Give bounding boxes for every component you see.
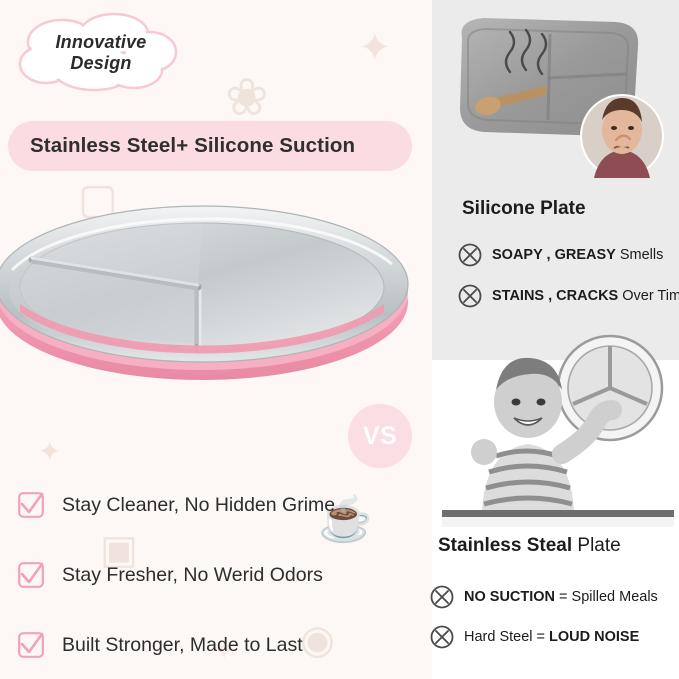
stainless-plate-title-bold: Stainless Steal bbox=[438, 535, 572, 556]
silicone-con-row: STAINS , CRACKS Over Time bbox=[458, 284, 679, 308]
x-circle-icon bbox=[430, 585, 454, 609]
sparkle-icon: ✦ bbox=[38, 438, 61, 466]
silicone-con-rest: Over Time bbox=[618, 288, 679, 304]
vs-badge: VS bbox=[348, 404, 412, 468]
feature-banner: Stainless Steel+ Silicone Suction bbox=[8, 121, 412, 171]
stainless-con-bold: NO SUCTION bbox=[464, 589, 555, 605]
stainless-plate-title-rest: Plate bbox=[572, 535, 621, 556]
silicone-con-bold: SOAPY , GREASY bbox=[492, 247, 616, 263]
check-icon bbox=[18, 562, 44, 588]
stainless-con-rest: = Spilled Meals bbox=[555, 589, 658, 605]
silicone-plate-section: Silicone Plate SOAPY , GREASY Smells bbox=[432, 0, 679, 360]
badge-line-2: Design bbox=[16, 53, 186, 74]
innovative-design-label: Innovative Design bbox=[16, 32, 186, 73]
stainless-con-row: Hard Steel = LOUD NOISE bbox=[430, 625, 639, 649]
silicone-con-label: SOAPY , GREASY Smells bbox=[492, 247, 663, 263]
check-icon bbox=[18, 632, 44, 658]
checklist-item: Stay Fresher, No Werid Odors bbox=[10, 540, 420, 610]
silicone-plate-title: Silicone Plate bbox=[462, 198, 586, 220]
stainless-plate-title: Stainless Steal Plate bbox=[438, 535, 621, 557]
sparkle-icon: ✦ bbox=[358, 28, 392, 68]
silicone-plate-title-bold: Silicone Plate bbox=[462, 198, 586, 219]
x-circle-icon bbox=[430, 625, 454, 649]
baby-photo bbox=[442, 332, 674, 527]
left-panel: ❀ ▢ ☕ ▣ ◉ ✦ ✧ ✦ ✧ bbox=[0, 0, 432, 679]
silicone-con-rest: Smells bbox=[616, 247, 664, 263]
feature-banner-label: Stainless Steel+ Silicone Suction bbox=[30, 134, 355, 158]
product-image-plate bbox=[0, 192, 412, 407]
stainless-con-label: NO SUCTION = Spilled Meals bbox=[464, 589, 658, 605]
checklist-item: Built Stronger, Made to Last bbox=[10, 610, 420, 679]
doodle-flower-icon: ❀ bbox=[225, 72, 269, 124]
silicone-con-bold: STAINS , CRACKS bbox=[492, 288, 618, 304]
right-panel: Silicone Plate SOAPY , GREASY Smells bbox=[432, 0, 679, 679]
badge-line-1: Innovative bbox=[16, 32, 186, 53]
checklist-item-label: Built Stronger, Made to Last bbox=[62, 634, 303, 657]
stainless-con-rest: Hard Steel = bbox=[464, 629, 549, 645]
stainless-con-label: Hard Steel = LOUD NOISE bbox=[464, 629, 639, 645]
checklist-item: Stay Cleaner, No Hidden Grime bbox=[10, 470, 420, 540]
checklist-item-label: Stay Cleaner, No Hidden Grime bbox=[62, 494, 335, 517]
vs-label: VS bbox=[363, 422, 397, 451]
x-circle-icon bbox=[458, 284, 482, 308]
stainless-plate-section: Stainless Steal Plate NO SUCTION = Spill… bbox=[432, 360, 679, 679]
checklist-item-label: Stay Fresher, No Werid Odors bbox=[62, 564, 323, 587]
benefits-checklist: Stay Cleaner, No Hidden Grime Stay Fresh… bbox=[10, 470, 420, 679]
check-icon bbox=[18, 492, 44, 518]
innovative-design-badge: Innovative Design bbox=[16, 12, 186, 96]
stainless-con-row: NO SUCTION = Spilled Meals bbox=[430, 585, 658, 609]
x-circle-icon bbox=[458, 243, 482, 267]
silicone-con-label: STAINS , CRACKS Over Time bbox=[492, 288, 679, 304]
stainless-con-bold: LOUD NOISE bbox=[549, 629, 639, 645]
silicone-plate-photo bbox=[444, 8, 674, 183]
silicone-con-row: SOAPY , GREASY Smells bbox=[458, 243, 663, 267]
product-infographic: ❀ ▢ ☕ ▣ ◉ ✦ ✧ ✦ ✧ bbox=[0, 0, 679, 679]
